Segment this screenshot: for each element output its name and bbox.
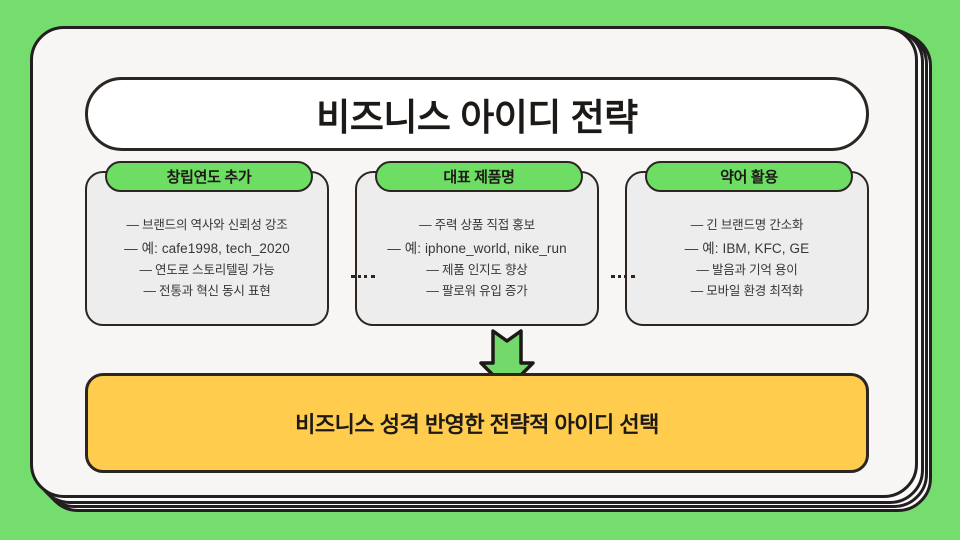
column-list-1: — 브랜드의 역사와 신뢰성 강조 — 예: cafe1998, tech_20… [87,209,327,303]
main-card: 비즈니스 아이디 전략 창립연도 추가 — 브랜드의 역사와 신뢰성 강조 — … [30,26,918,498]
column-card-founding-year[interactable]: 창립연도 추가 — 브랜드의 역사와 신뢰성 강조 — 예: cafe1998,… [85,171,329,326]
column-header-label-2: 대표 제품명 [443,166,514,187]
conclusion-banner: 비즈니스 성격 반영한 전략적 아이디 선택 [85,373,869,473]
infographic-canvas: 비즈니스 아이디 전략 창립연도 추가 — 브랜드의 역사와 신뢰성 강조 — … [0,0,960,540]
column-header-pill-1: 창립연도 추가 [105,161,313,192]
column-card-product-name[interactable]: 대표 제품명 — 주력 상품 직접 홍보 — 예: iphone_world, … [355,171,599,326]
list-item-example: — 예: cafe1998, tech_2020 [95,237,319,260]
column-card-acronym[interactable]: 약어 활용 — 긴 브랜드명 간소화 — 예: IBM, KFC, GE — 발… [625,171,869,326]
list-item: — 팔로워 유입 증가 [365,281,589,303]
dotted-connector-2 [611,275,635,278]
column-header-label-3: 약어 활용 [720,166,778,187]
dotted-connector-1 [351,275,375,278]
list-item: — 긴 브랜드명 간소화 [635,215,859,237]
list-item: — 모바일 환경 최적화 [635,281,859,303]
column-list-2: — 주력 상품 직접 홍보 — 예: iphone_world, nike_ru… [357,209,597,303]
list-item: — 브랜드의 역사와 신뢰성 강조 [95,215,319,237]
list-item-example: — 예: IBM, KFC, GE [635,237,859,260]
title-pill: 비즈니스 아이디 전략 [85,77,869,151]
column-list-3: — 긴 브랜드명 간소화 — 예: IBM, KFC, GE — 발음과 기억 … [627,209,867,303]
conclusion-banner-label: 비즈니스 성격 반영한 전략적 아이디 선택 [295,407,659,439]
page-title: 비즈니스 아이디 전략 [316,87,637,141]
column-header-pill-2: 대표 제품명 [375,161,583,192]
list-item-example: — 예: iphone_world, nike_run [365,237,589,260]
list-item: — 제품 인지도 향상 [365,260,589,282]
list-item: — 연도로 스토리텔링 가능 [95,260,319,282]
list-item: — 주력 상품 직접 홍보 [365,215,589,237]
column-header-pill-3: 약어 활용 [645,161,853,192]
column-header-label-1: 창립연도 추가 [167,166,252,187]
columns-row: 창립연도 추가 — 브랜드의 역사와 신뢰성 강조 — 예: cafe1998,… [85,171,869,339]
list-item: — 전통과 혁신 동시 표현 [95,281,319,303]
list-item: — 발음과 기억 용이 [635,260,859,282]
